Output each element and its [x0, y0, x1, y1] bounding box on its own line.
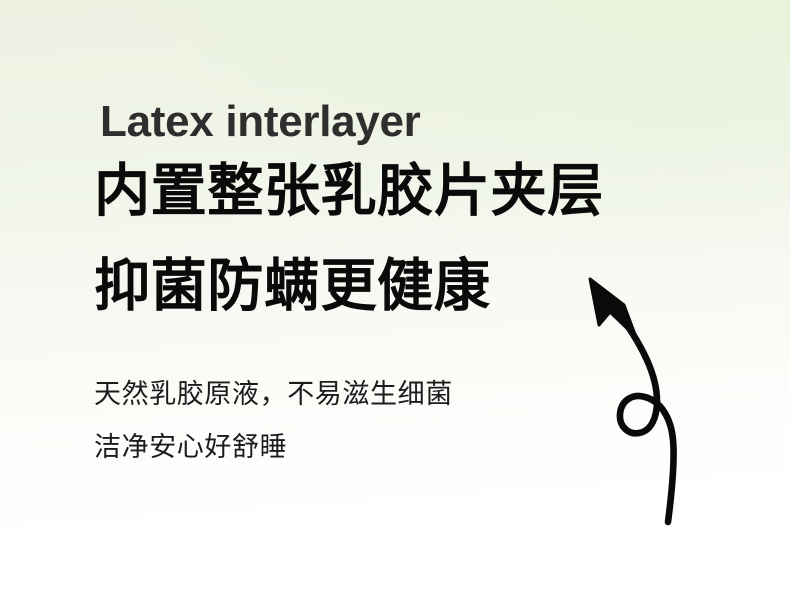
english-title: Latex interlayer [100, 96, 654, 148]
headline-line-2: 抑菌防螨更健康 [94, 255, 646, 317]
subtext-line-2: 洁净安心好舒睡 [94, 429, 654, 465]
poster-canvas: Latex interlayer 内置整张乳胶片夹层 抑菌防螨更健康 天然乳胶原… [0, 0, 790, 597]
headline-line-1: 内置整张乳胶片夹层 [94, 160, 646, 222]
text-content-block: Latex interlayer 内置整张乳胶片夹层 抑菌防螨更健康 天然乳胶原… [94, 96, 654, 465]
subtext-line-1: 天然乳胶原液，不易滋生细菌 [94, 376, 654, 412]
